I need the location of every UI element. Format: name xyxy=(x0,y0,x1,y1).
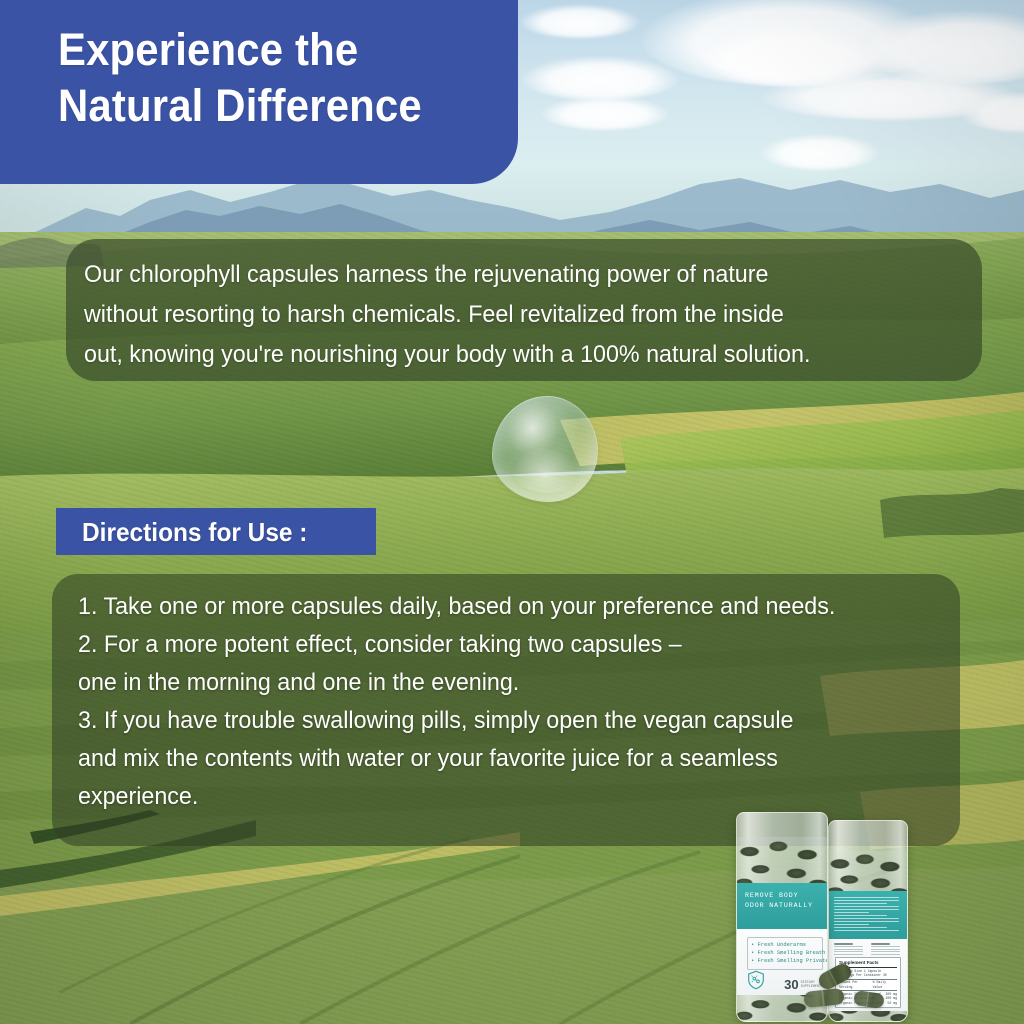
header-banner: Experience the Natural Difference xyxy=(0,0,518,184)
directions-heading-label: Directions for Use : xyxy=(82,516,307,548)
cloud xyxy=(520,4,640,38)
directions-body-text: 1. Take one or more capsules daily, base… xyxy=(78,588,914,816)
benefit-item: • Fresh Underarms xyxy=(751,941,819,949)
supplement-row-name: Amount Per Serving xyxy=(839,980,873,989)
cloud xyxy=(520,56,680,100)
benefit-item: • Fresh Smelling Private Area xyxy=(751,957,819,965)
product-tagline: REMOVE BODY ODOR NATURALLY xyxy=(745,891,813,911)
capsule-count: 30 xyxy=(784,978,798,991)
cloud xyxy=(540,96,670,130)
back-label-fineprint xyxy=(834,897,902,931)
shield-icon xyxy=(745,969,767,991)
supplement-row-value: % Daily Value xyxy=(873,980,897,989)
page-title: Experience the Natural Difference xyxy=(58,22,458,134)
supplement-row-value: 50 mg xyxy=(887,1001,897,1005)
supplement-row: Amount Per Serving % Daily Value xyxy=(839,980,897,989)
back-label-columns xyxy=(834,943,902,955)
infographic-poster: Experience the Natural Difference Our ch… xyxy=(0,0,1024,1024)
description-panel: Our chlorophyll capsules harness the rej… xyxy=(66,239,982,381)
benefit-item: • Fresh Smelling Breath xyxy=(751,949,819,957)
dose-row: 30 DIETARY SUPPLEMENT xyxy=(745,969,821,991)
bottle-front-label-white: • Fresh Underarms • Fresh Smelling Breat… xyxy=(737,929,827,995)
product-bottles: Supplement Facts Serving Size 1 Capsule … xyxy=(726,800,1024,1024)
directions-heading-bar: Directions for Use : xyxy=(56,508,376,555)
bottle-front-label-teal: REMOVE BODY ODOR NATURALLY xyxy=(737,883,827,929)
capsule-count-block: 30 DIETARY SUPPLEMENT xyxy=(784,978,821,991)
capsule-count-sublabel: DIETARY SUPPLEMENT xyxy=(801,981,821,991)
description-text: Our chlorophyll capsules harness the rej… xyxy=(84,255,924,375)
capsules-visible xyxy=(737,837,827,889)
benefits-list: • Fresh Underarms • Fresh Smelling Breat… xyxy=(747,937,823,970)
bottle-back-label-teal xyxy=(829,891,907,939)
